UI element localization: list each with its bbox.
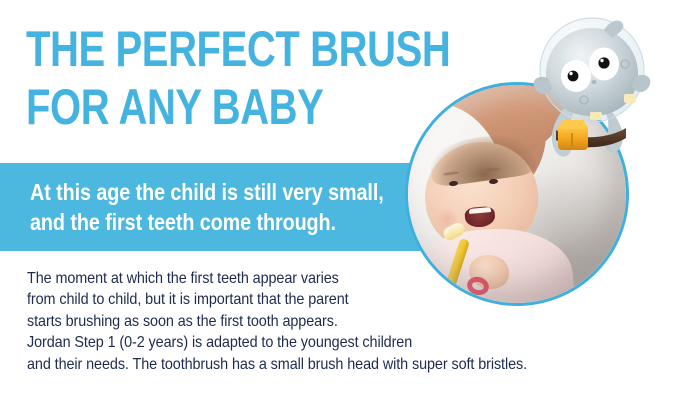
page-title: THE PERFECT BRUSH FOR ANY BABY xyxy=(26,20,446,136)
mascot-nose xyxy=(591,80,596,84)
subtitle-banner: At this age the child is still very smal… xyxy=(0,163,470,251)
mascot-character xyxy=(528,12,656,172)
mascot-eye-left xyxy=(561,60,591,92)
mascot-eye-right xyxy=(589,48,619,81)
banner-line-1: At this age the child is still very smal… xyxy=(30,177,400,207)
body-line-3: starts brushing as soon as the first too… xyxy=(27,311,603,332)
baby-eye-right xyxy=(488,178,497,184)
body-line-1: The moment at which the first teeth appe… xyxy=(27,268,603,289)
body-line-2: from child to child, but it is important… xyxy=(27,289,603,310)
banner-text: At this age the child is still very smal… xyxy=(30,177,460,237)
body-paragraph: The moment at which the first teeth appe… xyxy=(27,268,667,375)
poster-canvas: THE PERFECT BRUSH FOR ANY BABY At this a… xyxy=(0,0,679,420)
headline-line-2: FOR ANY BABY xyxy=(26,78,362,136)
headline-line-1: THE PERFECT BRUSH xyxy=(26,20,362,78)
body-line-4: Jordan Step 1 (0-2 years) is adapted to … xyxy=(27,332,603,353)
body-line-5: and their needs. The toothbrush has a sm… xyxy=(27,354,603,375)
mascot-tag-right xyxy=(624,94,636,103)
mascot-tag-lower xyxy=(590,112,602,120)
banner-line-2: and the first teeth come through. xyxy=(30,207,400,237)
